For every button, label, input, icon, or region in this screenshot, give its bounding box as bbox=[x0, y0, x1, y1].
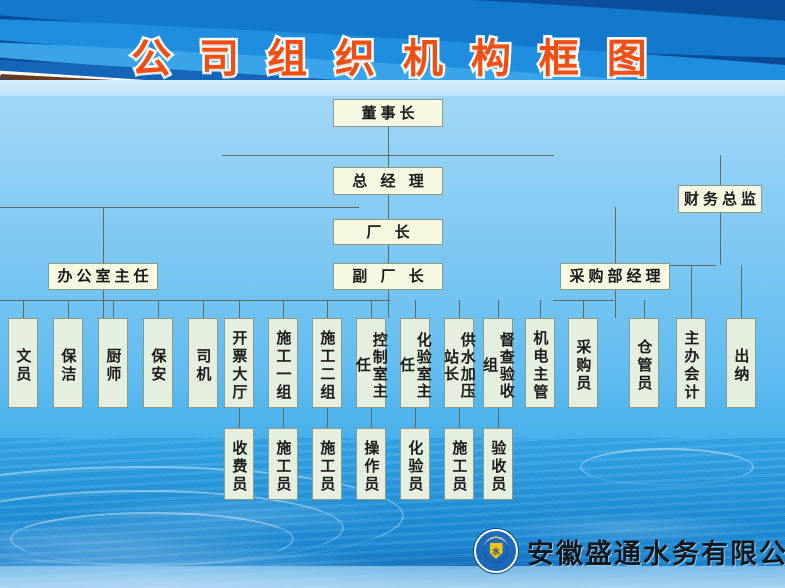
org-node-n11[interactable]: 保洁 bbox=[53, 318, 83, 408]
connector-vertical bbox=[615, 207, 616, 263]
connector-vertical bbox=[103, 207, 104, 263]
connector-vertical bbox=[459, 300, 460, 318]
page-title: 公 司 组 织 机 构 框 图 bbox=[0, 26, 785, 84]
org-node-n55[interactable]: 施工员 bbox=[444, 428, 474, 500]
org-node-n51[interactable]: 施工员 bbox=[268, 428, 298, 500]
org-node-n25[interactable]: 供水加压站长 bbox=[444, 318, 474, 408]
org-node-n53[interactable]: 操作员 bbox=[356, 428, 386, 500]
connector-vertical bbox=[459, 408, 460, 428]
connector-vertical bbox=[388, 290, 389, 318]
org-node-n12[interactable]: 厨师 bbox=[98, 318, 128, 408]
connector-vertical bbox=[388, 245, 389, 263]
water-ripple-ring bbox=[580, 448, 754, 486]
connector-vertical bbox=[415, 300, 416, 318]
connector-vertical bbox=[283, 408, 284, 428]
org-node-n04[interactable]: 厂 长 bbox=[333, 219, 443, 245]
connector-vertical bbox=[583, 300, 584, 318]
org-node-n10[interactable]: 文员 bbox=[8, 318, 38, 408]
connector-vertical bbox=[691, 265, 692, 318]
org-node-n06[interactable]: 副 厂 长 bbox=[333, 263, 443, 290]
org-node-n20[interactable]: 开票大厅 bbox=[224, 318, 254, 408]
org-node-n41[interactable]: 出纳 bbox=[726, 318, 756, 408]
org-node-n05[interactable]: 办公室主任 bbox=[48, 263, 158, 290]
org-node-n56[interactable]: 验收员 bbox=[483, 428, 513, 500]
connector-vertical bbox=[158, 300, 159, 318]
connector-vertical bbox=[103, 290, 104, 318]
connector-vertical bbox=[327, 408, 328, 428]
org-node-n52[interactable]: 施工员 bbox=[312, 428, 342, 500]
org-node-n23[interactable]: 控制室主任 bbox=[356, 318, 386, 408]
company-logo-group: ✦ 水 安徽盛通水务有限公司 bbox=[474, 529, 785, 573]
connector-vertical bbox=[23, 300, 24, 318]
org-node-n07[interactable]: 采购部经理 bbox=[560, 263, 670, 290]
org-node-n01[interactable]: 董事长 bbox=[333, 99, 443, 127]
connector-vertical bbox=[113, 300, 114, 318]
org-chart-poster: 公 司 组 织 机 构 框 图 董事长总 经 理财务总监厂 长办公室主任副 厂 … bbox=[0, 0, 785, 588]
connector-vertical bbox=[371, 408, 372, 428]
org-node-n22[interactable]: 施工二组 bbox=[312, 318, 342, 408]
company-name: 安徽盛通水务有限公司 bbox=[527, 532, 785, 571]
connector-vertical bbox=[68, 300, 69, 318]
connector-vertical bbox=[371, 300, 372, 318]
connector-vertical bbox=[239, 300, 240, 318]
connector-vertical bbox=[388, 195, 389, 219]
connector-vertical bbox=[388, 127, 389, 167]
connector-vertical bbox=[415, 408, 416, 428]
connector-horizontal bbox=[222, 155, 554, 156]
connector-vertical bbox=[615, 290, 616, 318]
connector-vertical bbox=[327, 300, 328, 318]
org-node-n40[interactable]: 主办会计 bbox=[676, 318, 706, 408]
org-node-n03[interactable]: 财务总监 bbox=[678, 185, 762, 213]
water-ripple-ring bbox=[10, 512, 294, 566]
connector-vertical bbox=[498, 408, 499, 428]
org-node-n21[interactable]: 施工一组 bbox=[268, 318, 298, 408]
org-node-n02[interactable]: 总 经 理 bbox=[333, 167, 443, 195]
connector-vertical bbox=[239, 408, 240, 428]
org-node-n54[interactable]: 化验员 bbox=[400, 428, 430, 500]
org-node-n30[interactable]: 采购员 bbox=[568, 318, 598, 408]
org-node-n13[interactable]: 保安 bbox=[143, 318, 173, 408]
org-node-n50[interactable]: 收费员 bbox=[224, 428, 254, 500]
connector-vertical bbox=[540, 300, 541, 318]
org-node-n24[interactable]: 化验室主任 bbox=[400, 318, 430, 408]
connector-vertical bbox=[741, 265, 742, 318]
emblem-shield-icon: 水 bbox=[490, 543, 503, 559]
connector-vertical bbox=[720, 155, 721, 185]
connector-vertical bbox=[720, 213, 721, 265]
connector-vertical bbox=[644, 300, 645, 318]
org-node-n27[interactable]: 机电主管 bbox=[525, 318, 555, 408]
org-node-n26[interactable]: 督查验收组 bbox=[483, 318, 513, 408]
org-node-n31[interactable]: 仓管员 bbox=[629, 318, 659, 408]
connector-horizontal bbox=[0, 207, 359, 208]
connector-vertical bbox=[498, 300, 499, 318]
org-node-n14[interactable]: 司机 bbox=[188, 318, 218, 408]
connector-vertical bbox=[203, 300, 204, 318]
emblem-inner-disc: 水 bbox=[483, 538, 509, 564]
water-company-emblem-icon: ✦ 水 bbox=[474, 529, 518, 573]
connector-vertical bbox=[283, 300, 284, 318]
